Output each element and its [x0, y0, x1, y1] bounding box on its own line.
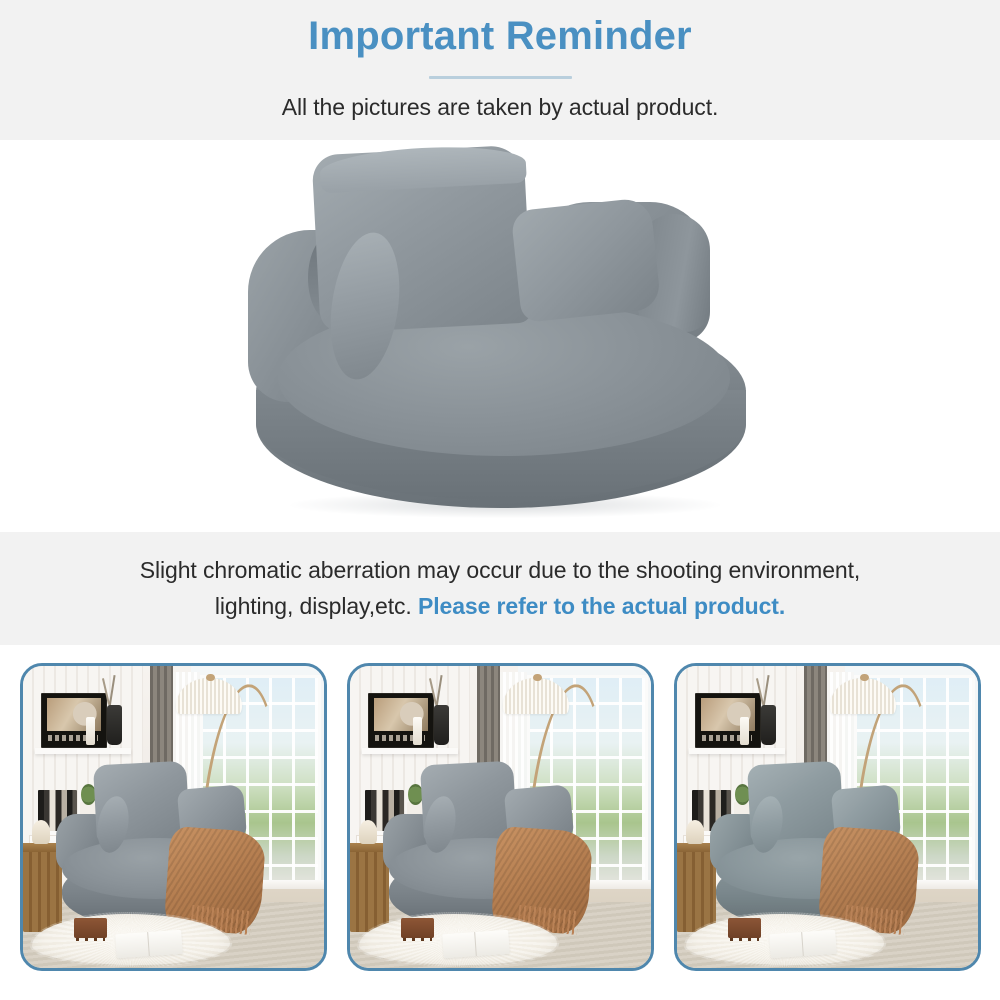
product-illustration	[220, 140, 780, 532]
room-scene-3	[677, 666, 978, 968]
thumbnail-strip	[0, 645, 1000, 1000]
dark-vase	[107, 705, 122, 744]
framed-artwork	[41, 693, 107, 747]
candle-decor	[413, 717, 423, 744]
page-title: Important Reminder	[308, 12, 692, 60]
upper-shelf	[35, 748, 131, 755]
framed-artwork	[368, 693, 434, 747]
candle-decor	[740, 717, 750, 744]
table-decor-object	[359, 820, 377, 844]
reminder-page: Important Reminder All the pictures are …	[0, 0, 1000, 1000]
wooden-stool	[401, 918, 434, 938]
table-decor-object	[686, 820, 704, 844]
wooden-stool	[728, 918, 761, 938]
header-band: Important Reminder All the pictures are …	[0, 0, 1000, 140]
disclaimer-line-2-plain: lighting, display,etc.	[215, 593, 418, 619]
hero-product-image	[0, 140, 1000, 532]
header-subtitle: All the pictures are taken by actual pro…	[282, 94, 719, 121]
open-book	[115, 929, 183, 958]
framed-artwork	[695, 693, 761, 747]
chair-lumbar-pillow	[511, 197, 662, 323]
wooden-stool	[74, 918, 107, 938]
open-book	[442, 929, 510, 958]
thumbnail-3[interactable]	[674, 663, 981, 971]
thumbnail-2[interactable]	[347, 663, 654, 971]
disclaimer-line-2: lighting, display,etc. Please refer to t…	[215, 589, 785, 625]
thumbnail-1[interactable]	[20, 663, 327, 971]
disclaimer-band: Slight chromatic aberration may occur du…	[0, 532, 1000, 645]
title-divider-rule	[429, 76, 572, 79]
table-decor-object	[32, 820, 50, 844]
disclaimer-line-1: Slight chromatic aberration may occur du…	[140, 553, 860, 589]
open-book	[769, 929, 837, 958]
upper-shelf	[689, 748, 785, 755]
room-scene-1	[23, 666, 324, 968]
candle-decor	[86, 717, 96, 744]
room-scene-2	[350, 666, 651, 968]
dark-vase	[434, 705, 449, 744]
dark-vase	[761, 705, 776, 744]
disclaimer-accent-text: Please refer to the actual product.	[418, 593, 785, 619]
upper-shelf	[362, 748, 458, 755]
